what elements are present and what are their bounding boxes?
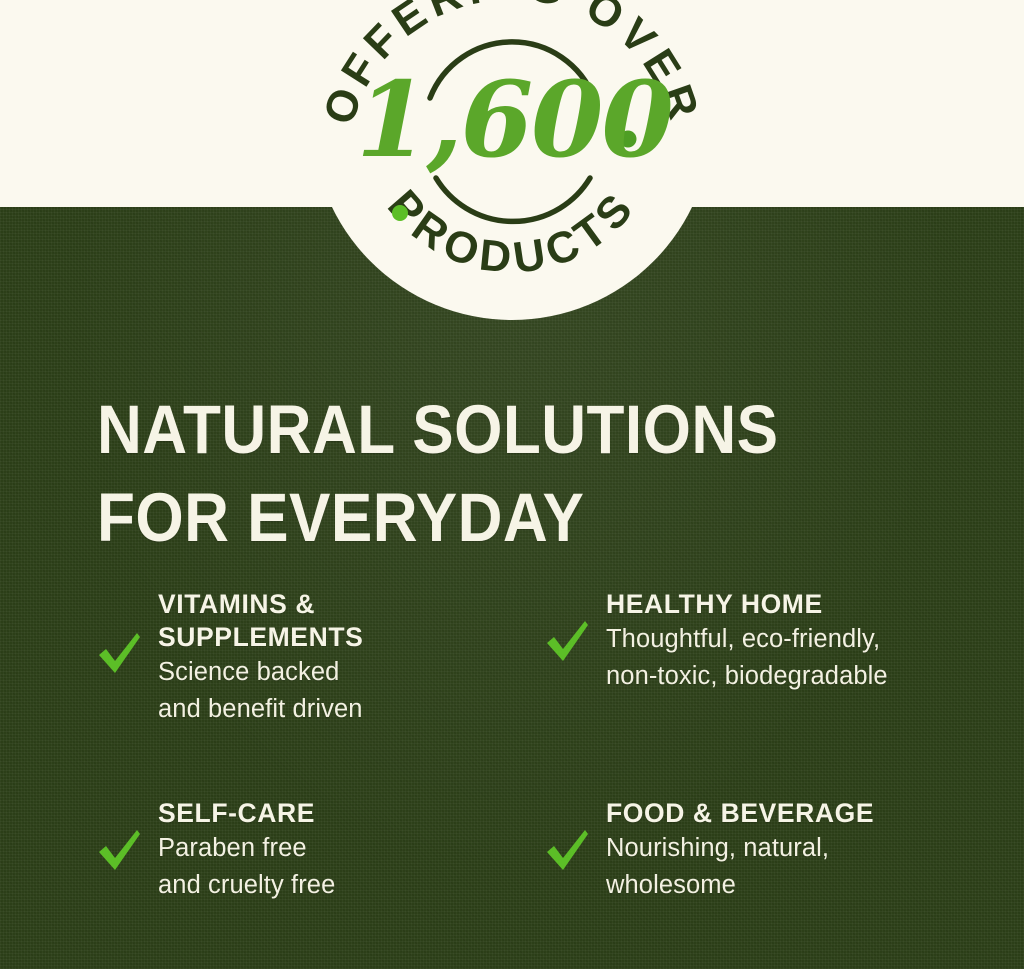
- feature-item-food-beverage: FOOD & BEVERAGE Nourishing, natural, who…: [544, 797, 994, 904]
- feature-title: VITAMINS & SUPPLEMENTS: [158, 588, 526, 654]
- check-icon: [96, 628, 142, 680]
- feature-description-line: Science backed: [158, 654, 526, 691]
- page-title: NATURAL SOLUTIONS FOR EVERYDAY: [97, 386, 907, 562]
- feature-body: HEALTHY HOME Thoughtful, eco-friendly, n…: [606, 588, 994, 695]
- check-icon: [544, 616, 590, 668]
- feature-description-line: Nourishing, natural,: [606, 830, 994, 867]
- feature-description-line: wholesome: [606, 867, 994, 904]
- feature-body: VITAMINS & SUPPLEMENTS Science backed an…: [158, 588, 526, 728]
- feature-description: Thoughtful, eco-friendly, non-toxic, bio…: [606, 621, 994, 695]
- feature-item-vitamins-supplements: VITAMINS & SUPPLEMENTS Science backed an…: [96, 588, 526, 728]
- headline-line-2: FOR EVERYDAY: [97, 474, 907, 562]
- feature-body: SELF-CARE Paraben free and cruelty free: [158, 797, 526, 904]
- feature-description-line: non-toxic, biodegradable: [606, 658, 994, 695]
- feature-title-line: HEALTHY HOME: [606, 589, 823, 619]
- feature-body: FOOD & BEVERAGE Nourishing, natural, who…: [606, 797, 994, 904]
- feature-title-line: SELF-CARE: [158, 798, 315, 828]
- feature-item-healthy-home: HEALTHY HOME Thoughtful, eco-friendly, n…: [544, 588, 994, 695]
- check-icon: [544, 825, 590, 877]
- feature-description-line: and benefit driven: [158, 691, 526, 728]
- feature-description: Nourishing, natural, wholesome: [606, 830, 994, 904]
- feature-title-line: SUPPLEMENTS: [158, 622, 363, 652]
- badge-dot-left-icon: [392, 205, 408, 221]
- feature-title: FOOD & BEVERAGE: [606, 797, 994, 830]
- feature-item-self-care: SELF-CARE Paraben free and cruelty free: [96, 797, 526, 904]
- feature-description-line: and cruelty free: [158, 867, 526, 904]
- feature-description-line: Paraben free: [158, 830, 526, 867]
- feature-description: Paraben free and cruelty free: [158, 830, 526, 904]
- feature-list: VITAMINS & SUPPLEMENTS Science backed an…: [0, 588, 1024, 948]
- badge-count: 1,600: [356, 58, 673, 181]
- badge-lower-swoosh-icon: [436, 178, 590, 221]
- offering-over-badge: OFFERING OVER PRODUCTS 1,600: [312, 0, 712, 320]
- headline-line-1: NATURAL SOLUTIONS: [97, 386, 907, 474]
- feature-title: HEALTHY HOME: [606, 588, 994, 621]
- feature-description-line: Thoughtful, eco-friendly,: [606, 621, 994, 658]
- feature-description: Science backed and benefit driven: [158, 654, 526, 728]
- badge-artwork: OFFERING OVER PRODUCTS 1,600: [312, 0, 712, 320]
- promo-banner: OFFERING OVER PRODUCTS 1,600 NATURAL SOL…: [0, 0, 1024, 969]
- badge-bottom-arc-textpath: PRODUCTS: [378, 181, 646, 283]
- feature-title-line: FOOD & BEVERAGE: [606, 798, 874, 828]
- feature-title-line: VITAMINS &: [158, 589, 315, 619]
- badge-bottom-arc-text: PRODUCTS: [378, 181, 646, 283]
- feature-title: SELF-CARE: [158, 797, 526, 830]
- check-icon: [96, 825, 142, 877]
